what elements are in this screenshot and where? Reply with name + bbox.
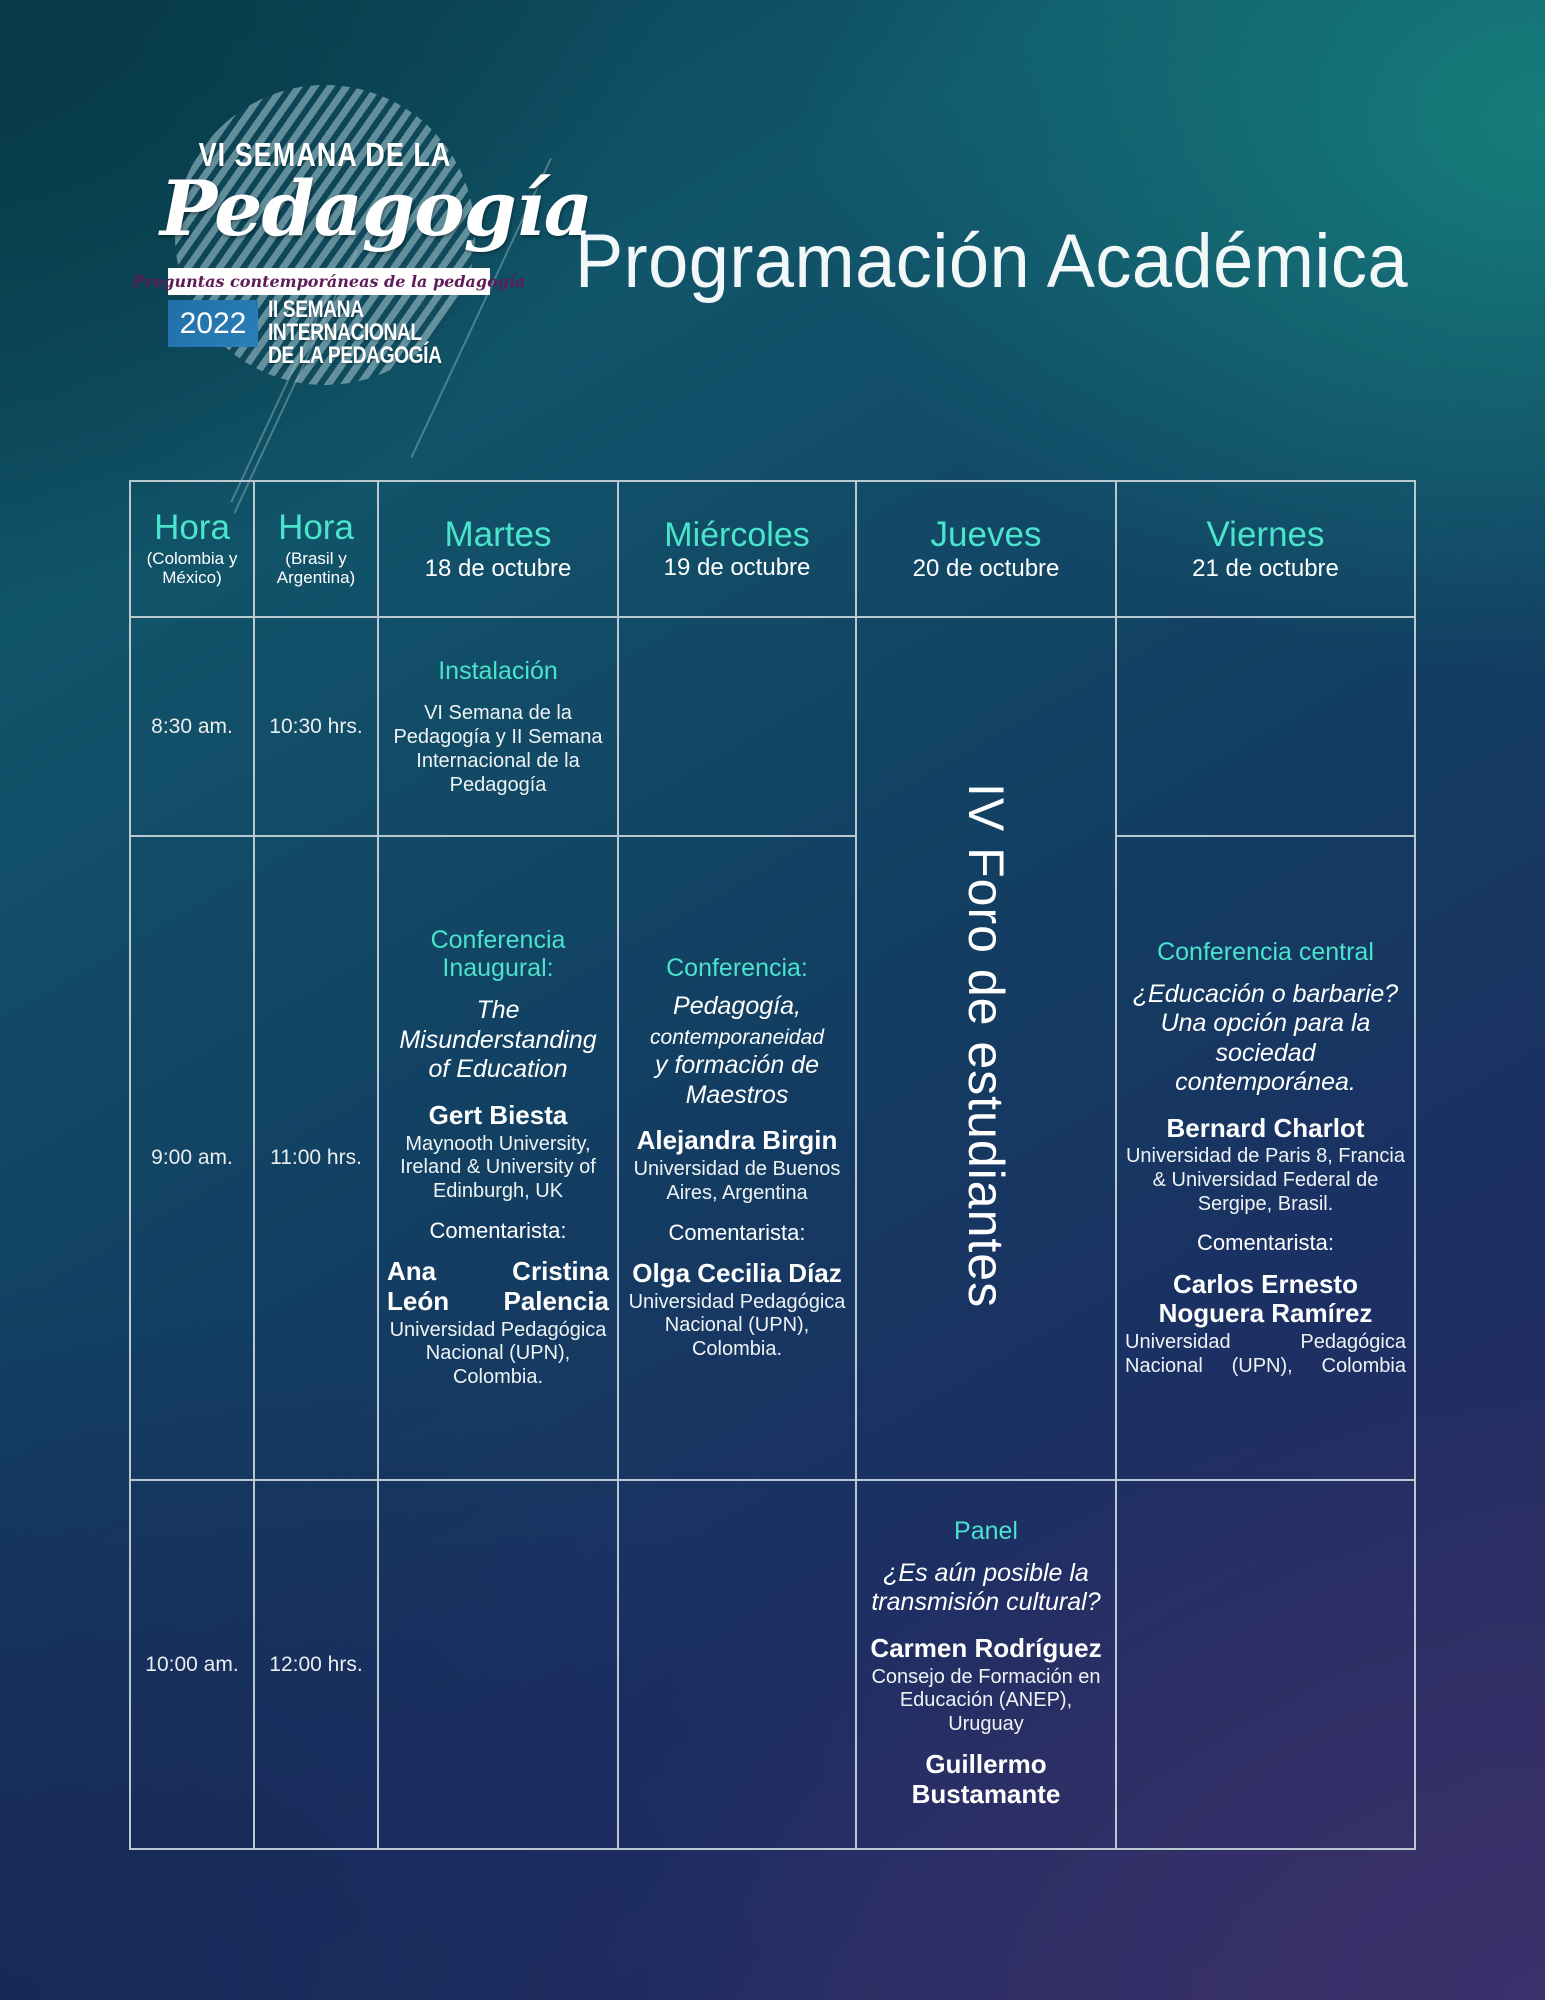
session-topic-line-3: y formación de Maestros (655, 1051, 819, 1109)
col-header-day: Martes (387, 517, 609, 554)
commentator-affiliation: Universidad Pedagógica Nacional (UPN), C… (1125, 1331, 1406, 1378)
logo-year: 2022 (180, 307, 247, 341)
table-body: 8:30 am. 10:30 hrs. Instalación VI Seman… (130, 617, 1415, 1849)
cell-viernes-empty (1116, 1480, 1415, 1849)
cell-time-brasil: 12:00 hrs. (254, 1480, 378, 1849)
session-topic: The Misunderstanding of Education (387, 996, 609, 1085)
cell-martes-conferencia-inaugural: Conferencia Inaugural: The Misunderstand… (378, 836, 618, 1480)
panel-speaker-2: Guillermo Bustamante (865, 1750, 1107, 1810)
cell-time-colombia: 9:00 am. (130, 836, 254, 1480)
session-topic-line-2: contemporaneidad (650, 1026, 824, 1049)
col-header-date: 21 de octubre (1125, 556, 1406, 581)
panel-affiliation-1: Consejo de Formación en Educación (ANEP)… (865, 1666, 1107, 1737)
table-row: 10:00 am. 12:00 hrs. Panel ¿Es aún posib… (130, 1480, 1415, 1849)
panel-speaker-1: Carmen Rodríguez (865, 1634, 1107, 1664)
poster-header: VI SEMANA DE LA Pedagogía Preguntas cont… (0, 0, 1545, 470)
header-row: Hora (Colombia y México) Hora (Brasil y … (130, 481, 1415, 617)
col-header-miercoles: Miércoles 19 de octubre (618, 481, 856, 617)
session-affiliation: Universidad de Paris 8, Francia & Univer… (1125, 1145, 1406, 1216)
cell-viernes-empty (1116, 617, 1415, 836)
col-header-date: 20 de octubre (865, 556, 1107, 581)
cell-time-colombia: 8:30 am. (130, 617, 254, 836)
poster-root: VI SEMANA DE LA Pedagogía Preguntas cont… (0, 0, 1545, 2000)
col-header-day: Viernes (1125, 517, 1406, 554)
col-header-jueves: Jueves 20 de octubre (856, 481, 1116, 617)
cell-martes-instalacion: Instalación VI Semana de la Pedagogía y … (378, 617, 618, 836)
table-row: 8:30 am. 10:30 hrs. Instalación VI Seman… (130, 617, 1415, 836)
logo-year-badge: 2022 (168, 300, 258, 347)
cell-martes-empty (378, 1480, 618, 1849)
event-logo: VI SEMANA DE LA Pedagogía Preguntas cont… (160, 100, 490, 370)
col-header-date: 19 de octubre (627, 555, 847, 580)
commentator-name: Ana Cristina León Palencia (387, 1257, 609, 1317)
logo-subtitle: II SEMANA INTERNACIONAL DE LA PEDAGOGÍA (268, 298, 448, 367)
cell-time-brasil: 11:00 hrs. (254, 836, 378, 1480)
cell-time-brasil: 10:30 hrs. (254, 617, 378, 836)
commentator-name: Olga Cecilia Díaz (627, 1259, 847, 1289)
col-header-day: Hora (263, 510, 369, 547)
session-affiliation: Maynooth University, Ireland & Universit… (387, 1133, 609, 1204)
commentator-label: Comentarista: (1125, 1230, 1406, 1255)
col-header-zone: (Brasil y Argentina) (263, 549, 369, 588)
session-kicker: Conferencia Inaugural: (387, 926, 609, 982)
commentator-affiliation: Universidad Pedagógica Nacional (UPN), C… (627, 1291, 847, 1362)
session-topic: ¿Es aún posible la transmisión cultural? (865, 1559, 1107, 1618)
cell-miercoles-empty (618, 617, 856, 836)
col-header-hora-brasil: Hora (Brasil y Argentina) (254, 481, 378, 617)
col-header-day: Hora (139, 510, 245, 547)
logo-tagline: Preguntas contemporáneas de la pedagogía (133, 272, 526, 291)
session-topic: ¿Educación o barbarie? Una opción para l… (1125, 980, 1406, 1098)
col-header-hora-colombia: Hora (Colombia y México) (130, 481, 254, 617)
session-body: VI Semana de la Pedagogía y II Semana In… (387, 701, 609, 797)
col-header-zone: (Colombia y México) (139, 549, 245, 588)
session-kicker: Panel (865, 1517, 1107, 1545)
foro-vertical-label: IV Foro de estudiantes (961, 773, 1011, 1318)
session-affiliation: Universidad de Buenos Aires, Argentina (627, 1158, 847, 1205)
commentator-label: Comentarista: (627, 1220, 847, 1245)
session-speaker: Gert Biesta (387, 1101, 609, 1131)
logo-line-2: Pedagogía (160, 164, 490, 253)
commentator-label: Comentarista: (387, 1218, 609, 1243)
col-header-viernes: Viernes 21 de octubre (1116, 481, 1415, 617)
schedule-container: Hora (Colombia y México) Hora (Brasil y … (129, 480, 1414, 1850)
session-kicker: Instalación (387, 657, 609, 685)
col-header-date: 18 de octubre (387, 556, 609, 581)
col-header-martes: Martes 18 de octubre (378, 481, 618, 617)
cell-miercoles-conferencia: Conferencia: Pedagogía, contemporaneidad… (618, 836, 856, 1480)
col-header-day: Miércoles (627, 518, 847, 554)
commentator-name: Carlos Ernesto Noguera Ramírez (1125, 1270, 1406, 1330)
session-kicker: Conferencia central (1125, 938, 1406, 966)
logo-tagline-band: Preguntas contemporáneas de la pedagogía (168, 268, 490, 295)
session-topic-line-1: Pedagogía, (673, 992, 801, 1020)
commentator-affiliation: Universidad Pedagógica Nacional (UPN), C… (387, 1319, 609, 1390)
col-header-day: Jueves (865, 517, 1107, 554)
cell-time-colombia: 10:00 am. (130, 1480, 254, 1849)
session-speaker: Alejandra Birgin (627, 1126, 847, 1156)
page-title: Programación Académica (575, 218, 1408, 305)
session-topic: Pedagogía, contemporaneidad y formación … (627, 992, 847, 1110)
schedule-table: Hora (Colombia y México) Hora (Brasil y … (129, 480, 1416, 1850)
session-kicker: Conferencia: (627, 954, 847, 982)
session-speaker: Bernard Charlot (1125, 1114, 1406, 1144)
table-header: Hora (Colombia y México) Hora (Brasil y … (130, 481, 1415, 617)
cell-jueves-foro: IV Foro de estudiantes (856, 617, 1116, 1480)
cell-viernes-conferencia-central: Conferencia central ¿Educación o barbari… (1116, 836, 1415, 1480)
cell-miercoles-empty (618, 1480, 856, 1849)
cell-jueves-panel: Panel ¿Es aún posible la transmisión cul… (856, 1480, 1116, 1849)
table-row: 9:00 am. 11:00 hrs. Conferencia Inaugura… (130, 836, 1415, 1480)
